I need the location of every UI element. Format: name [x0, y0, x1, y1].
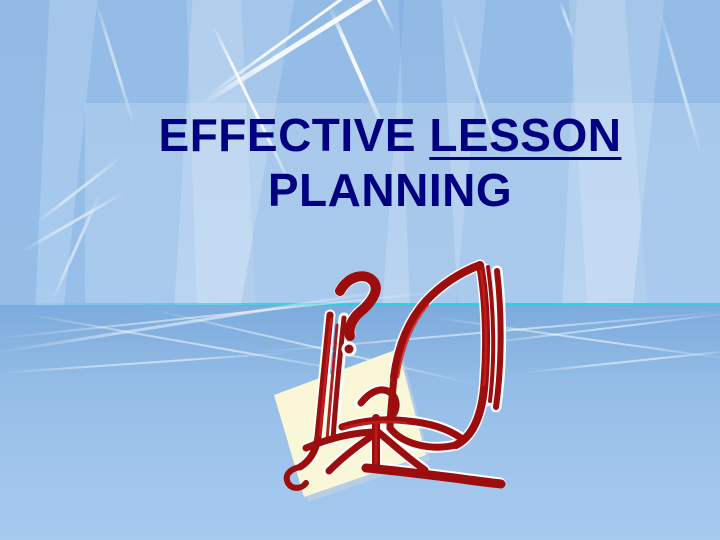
title-line-1: EFFECTIVE LESSON [85, 112, 695, 159]
illustration-svg [248, 255, 518, 505]
page-title: EFFECTIVE LESSON PLANNING [85, 112, 695, 214]
title-text-lesson-underlined: LESSON [429, 109, 621, 161]
slide-canvas: EFFECTIVE LESSON PLANNING [0, 0, 720, 540]
question-mark-dot [343, 343, 355, 355]
illustration-person-with-paper-and-question-mark [248, 255, 518, 505]
title-text-effective: EFFECTIVE [159, 109, 430, 161]
title-line-2: PLANNING [85, 167, 695, 214]
